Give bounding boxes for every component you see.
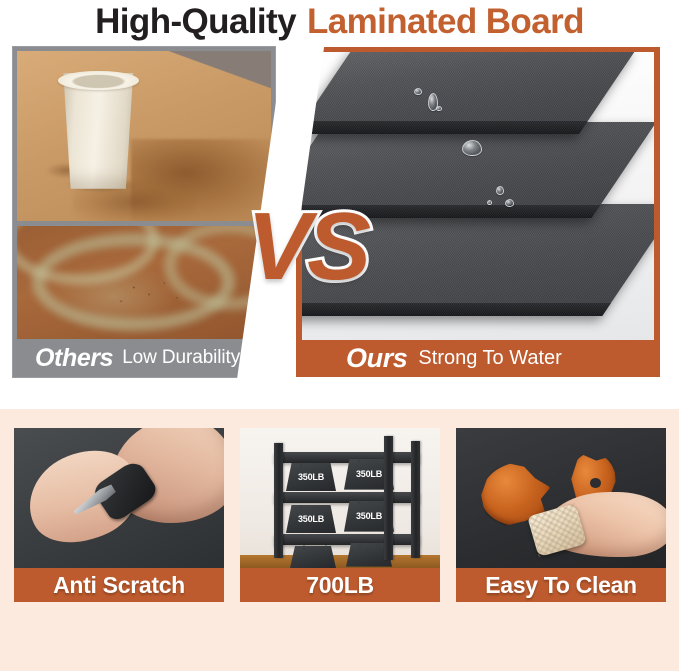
ours-title: Ours [346,343,407,374]
shelf-post [274,443,283,558]
board-edge [302,121,588,134]
page-title-primary: High-Quality [95,0,296,44]
others-panel: Others Low Durability [13,47,275,377]
weight-block: 350LB [286,505,336,533]
others-photo-spill [17,51,271,221]
shelf-beam [274,492,420,503]
paper-cup [58,73,139,189]
mildew-spots [17,226,271,340]
anti-scratch-photo [14,428,224,568]
feature-label-anti-scratch: Anti Scratch [14,568,224,602]
cup-body [58,73,139,189]
weight-block: 350LB [286,463,336,491]
water-droplet-icon [487,200,492,205]
laminated-board-top [302,52,637,134]
ours-caption: Ours Strong To Water [296,340,660,377]
page-title-accent: Laminated Board [307,0,584,44]
others-title: Others [35,344,113,373]
wooden-floor [240,555,440,568]
others-photo-mold [17,226,271,340]
shelf-beam [274,534,420,545]
water-droplet-icon [414,88,422,95]
ours-subtitle: Strong To Water [418,347,561,370]
shelf-beam [274,452,420,463]
others-subtitle: Low Durability [122,347,240,369]
water-droplet-icon [496,186,504,195]
feature-label-easy-clean: Easy To Clean [456,568,666,602]
water-droplet-icon [505,199,514,207]
versus-badge: VS [247,199,367,295]
shelf-post [411,441,420,559]
capacity-photo: 350LB 350LB 350LB 350LB [240,428,440,568]
feature-card-anti-scratch: Anti Scratch [14,428,224,602]
feature-card-easy-clean: Easy To Clean [456,428,666,602]
feature-strip: Anti Scratch 350LB 350LB 350LB 350LB 700… [0,409,679,671]
others-caption: Others Low Durability [13,339,275,377]
water-droplet-icon [462,140,482,156]
board-edge [302,303,611,316]
shelf-post [384,436,393,559]
weight-block [290,546,336,568]
comparison-section: Others Low Durability Ours [0,44,679,392]
easy-clean-photo [456,428,666,568]
feature-label-capacity: 700LB [240,568,440,602]
water-droplet-icon [436,106,442,111]
feature-card-capacity: 350LB 350LB 350LB 350LB 700LB [240,428,440,602]
page-title: High-Quality Laminated Board [0,0,679,44]
